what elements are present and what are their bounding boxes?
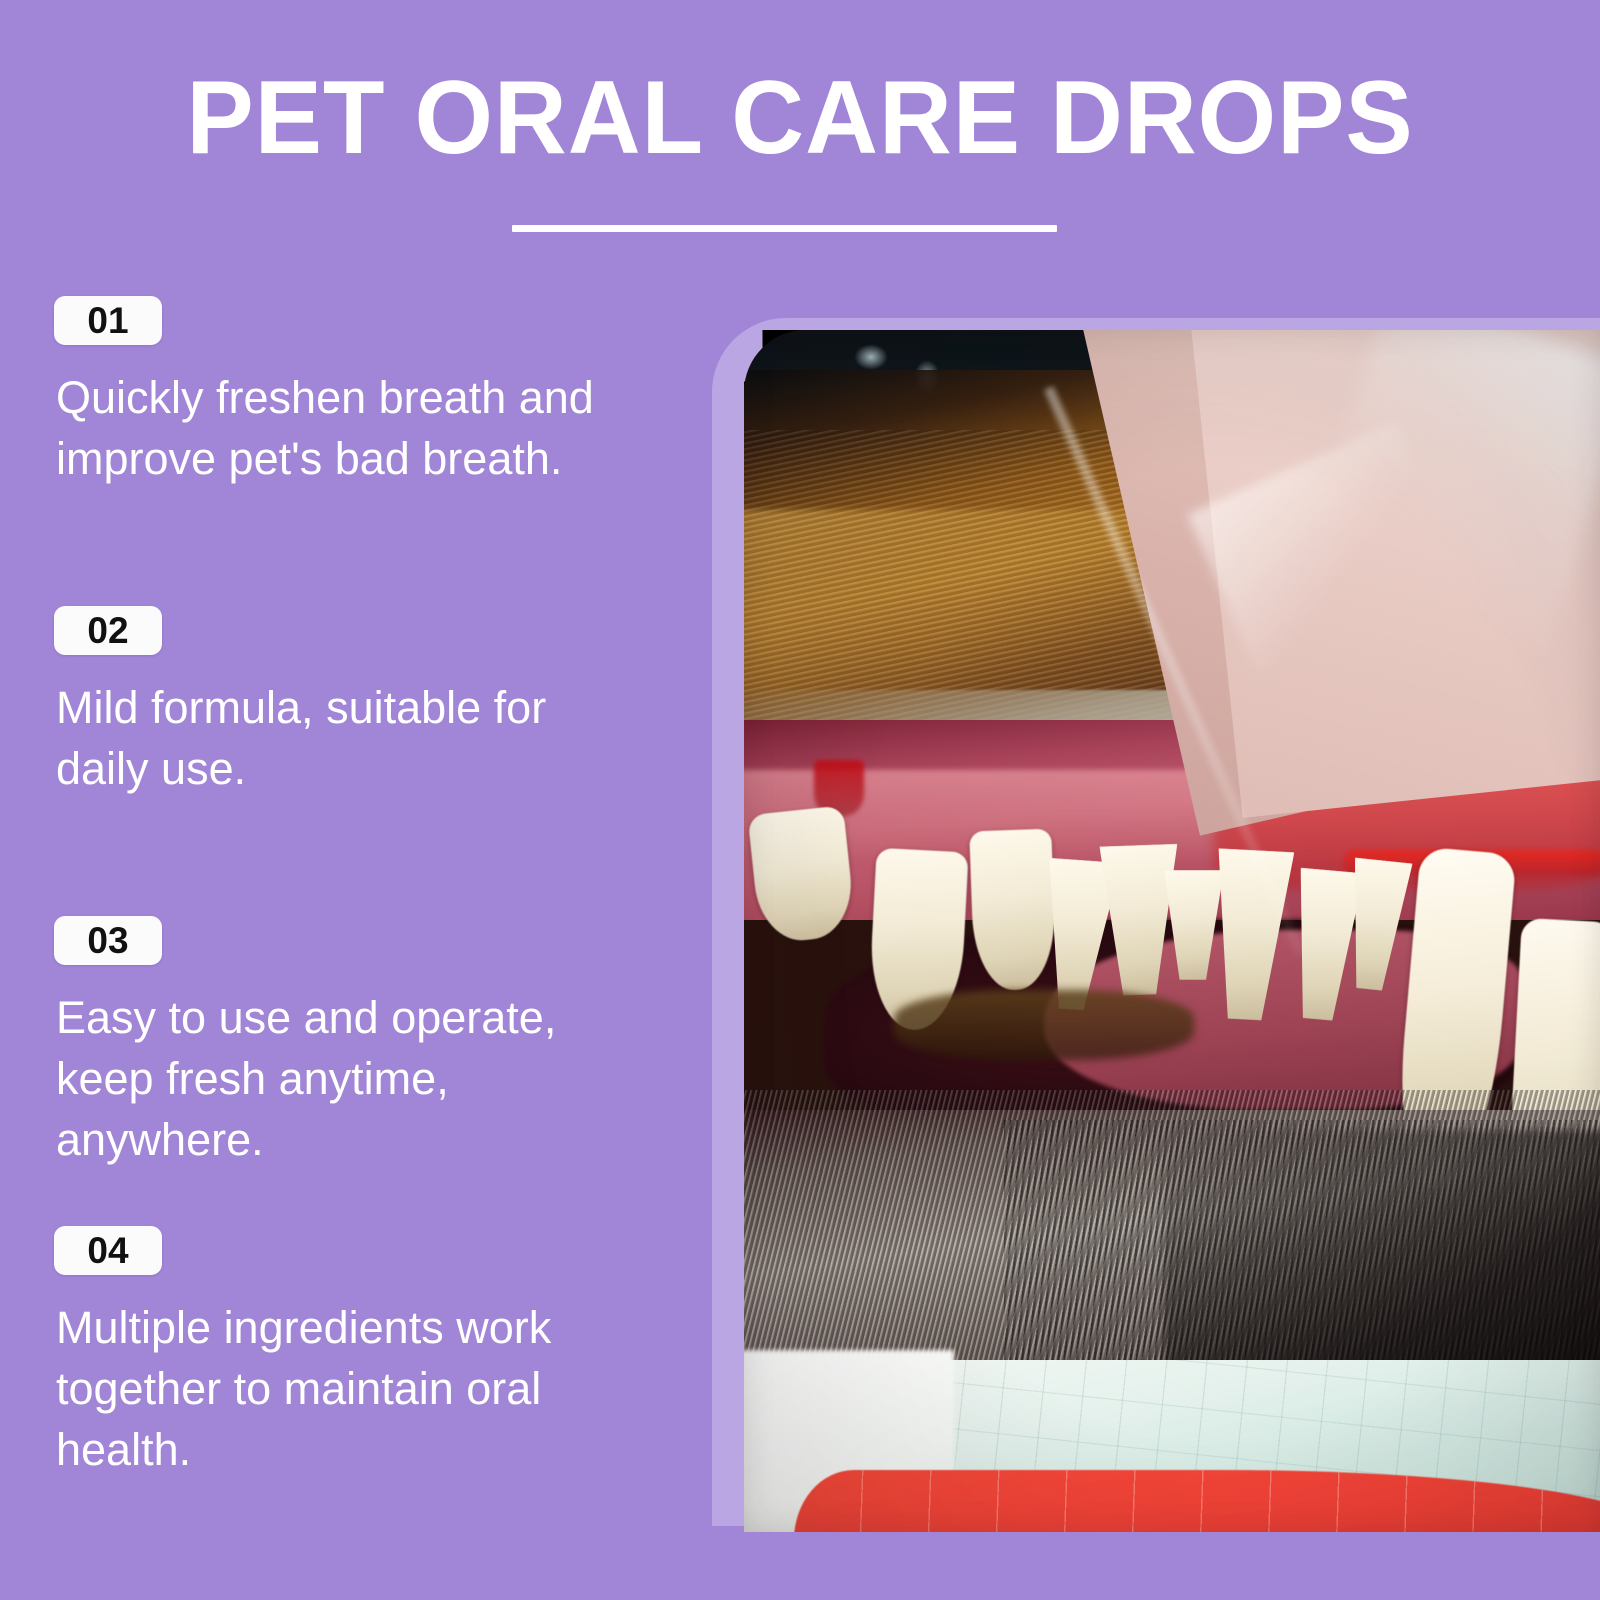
photo-edge-shadow	[744, 330, 1600, 1532]
page-title: PET ORAL CARE DROPS	[24, 62, 1576, 174]
poster-canvas: PET ORAL CARE DROPS 01 Quickly freshen b…	[0, 0, 1600, 1600]
feature-list: 01 Quickly freshen breath and improve pe…	[0, 296, 690, 1596]
feature-item-02: 02 Mild formula, suitable for daily use.	[0, 606, 690, 799]
feature-description: Quickly freshen breath and improve pet's…	[56, 367, 656, 489]
feature-description: Easy to use and operate, keep fresh anyt…	[56, 987, 656, 1170]
feature-number-badge: 03	[54, 916, 162, 965]
feature-description: Mild formula, suitable for daily use.	[56, 677, 656, 799]
feature-item-04: 04 Multiple ingredients work together to…	[0, 1226, 690, 1480]
poster-header: PET ORAL CARE DROPS	[0, 0, 1600, 270]
feature-item-01: 01 Quickly freshen breath and improve pe…	[0, 296, 690, 489]
title-divider	[512, 225, 1057, 232]
feature-number-badge: 02	[54, 606, 162, 655]
dog-teeth-photo	[744, 330, 1600, 1532]
feature-number-badge: 01	[54, 296, 162, 345]
feature-number-badge: 04	[54, 1226, 162, 1275]
photo-panel	[744, 330, 1600, 1532]
feature-item-03: 03 Easy to use and operate, keep fresh a…	[0, 916, 690, 1170]
feature-description: Multiple ingredients work together to ma…	[56, 1297, 656, 1480]
